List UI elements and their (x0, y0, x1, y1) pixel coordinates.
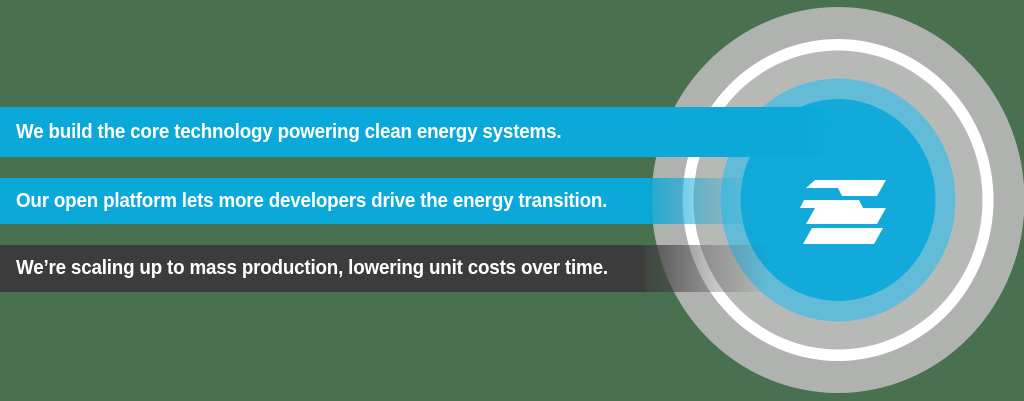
bar-fade-tail (700, 107, 860, 157)
infographic-canvas: We build the core technology powering cl… (0, 0, 1024, 401)
statement-bar-platform[interactable]: Our open platform lets more developers d… (0, 178, 760, 224)
statement-label-platform: Our open platform lets more developers d… (0, 190, 607, 213)
statement-label-scale: We’re scaling up to mass production, low… (0, 257, 608, 280)
statement-bar-technology[interactable]: We build the core technology powering cl… (0, 107, 860, 157)
statement-bar-scale[interactable]: We’re scaling up to mass production, low… (0, 245, 770, 292)
bar-fade-tail (645, 245, 770, 292)
statement-label-technology: We build the core technology powering cl… (0, 121, 561, 144)
three-layers-icon (782, 154, 894, 246)
bar-fade-tail (650, 178, 760, 224)
